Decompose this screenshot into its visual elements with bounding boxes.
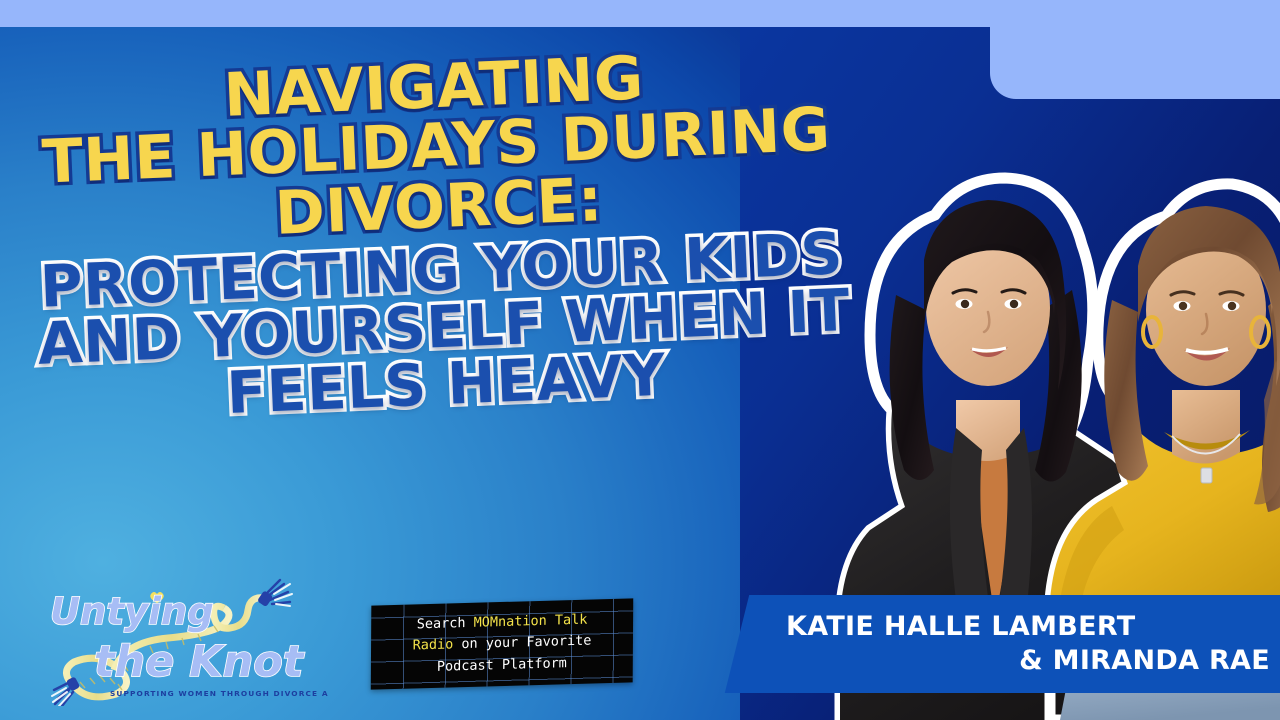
youtube-thumbnail: NAVIGATING THE HOLIDAYS DURING DIVORCE: … bbox=[0, 0, 1280, 720]
podcast-line1-pre: Search bbox=[417, 614, 474, 632]
title-block: NAVIGATING THE HOLIDAYS DURING DIVORCE: … bbox=[0, 40, 887, 431]
podcast-platform-banner[interactable]: Search MOMnation Talk Radio on your Favo… bbox=[371, 598, 633, 689]
host-name-line-1: KATIE HALLE LAMBERT bbox=[760, 610, 1270, 644]
podcast-line1-highlight: MOMnation Talk bbox=[474, 611, 588, 630]
podcast-line2-post: on your Favorite bbox=[453, 633, 591, 653]
logo-word-2: the Knot bbox=[94, 637, 305, 687]
hosts-name-text: KATIE HALLE LAMBERT & MIRANDA RAE bbox=[760, 595, 1280, 693]
untying-the-knot-logo[interactable]: Untying the Knot SUPPORTING WOMEN THROUG… bbox=[28, 576, 328, 706]
host-name-line-2: & MIRANDA RAE bbox=[760, 644, 1270, 678]
podcast-line3: Podcast Platform bbox=[437, 655, 567, 675]
logo-word-1: Untying bbox=[50, 590, 214, 633]
podcast-banner-text: Search MOMnation Talk Radio on your Favo… bbox=[406, 609, 597, 679]
logo-tagline: SUPPORTING WOMEN THROUGH DIVORCE AND BEY… bbox=[110, 689, 328, 698]
podcast-line2-highlight: Radio bbox=[413, 637, 454, 654]
top-accent-strip bbox=[0, 0, 1280, 27]
